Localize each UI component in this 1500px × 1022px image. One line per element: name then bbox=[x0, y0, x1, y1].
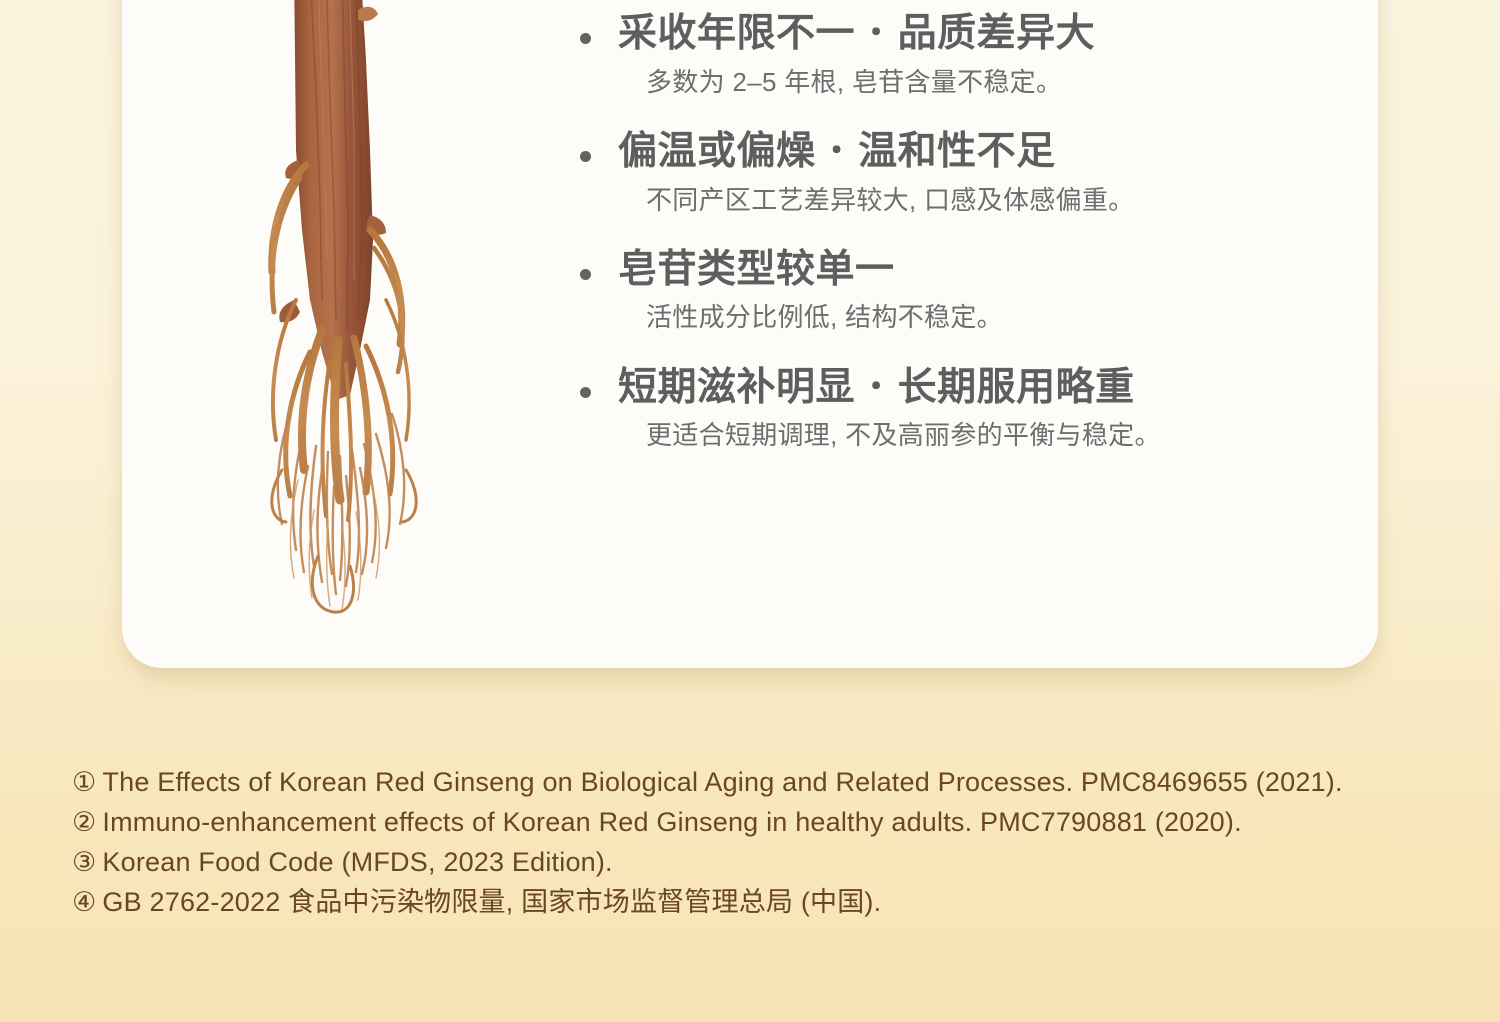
bullet-dot-icon bbox=[580, 151, 591, 162]
point-subtitle: 不同产区工艺差异较大, 口感及体感偏重。 bbox=[646, 183, 1318, 218]
reference-item: ②Immuno-enhancement effects of Korean Re… bbox=[72, 802, 1472, 842]
reference-number: ④ bbox=[72, 887, 96, 917]
point-title: 短期滋补明显 ･ 长期服用略重 bbox=[618, 364, 1318, 413]
bullet-dot-icon bbox=[580, 269, 591, 280]
point-subtitle: 活性成分比例低, 结构不稳定。 bbox=[646, 300, 1318, 335]
ginseng-root-illustration bbox=[210, 0, 490, 640]
bullet-dot-icon bbox=[580, 387, 591, 398]
list-item: 短期滋补明显 ･ 长期服用略重 更适合短期调理, 不及高丽参的平衡与稳定。 bbox=[578, 364, 1318, 454]
ginseng-root-image bbox=[210, 0, 490, 640]
list-item: 皂苷类型较单一 活性成分比例低, 结构不稳定。 bbox=[578, 246, 1318, 336]
reference-number: ③ bbox=[72, 847, 96, 877]
point-subtitle: 多数为 2–5 年根, 皂苷含量不稳定。 bbox=[646, 65, 1318, 100]
point-subtitle: 更适合短期调理, 不及高丽参的平衡与稳定。 bbox=[646, 418, 1318, 453]
reference-item: ③Korean Food Code (MFDS, 2023 Edition). bbox=[72, 842, 1472, 882]
bullet-dot-icon bbox=[580, 33, 591, 44]
references-list: ①The Effects of Korean Red Ginseng on Bi… bbox=[72, 762, 1472, 922]
point-title: 皂苷类型较单一 bbox=[618, 246, 1318, 295]
reference-number: ② bbox=[72, 807, 96, 837]
list-item: 采收年限不一 ･ 品质差异大 多数为 2–5 年根, 皂苷含量不稳定。 bbox=[578, 10, 1318, 100]
reference-number: ① bbox=[72, 767, 96, 797]
list-item: 偏温或偏燥 ･ 温和性不足 不同产区工艺差异较大, 口感及体感偏重。 bbox=[578, 128, 1318, 218]
feature-list: 采收年限不一 ･ 品质差异大 多数为 2–5 年根, 皂苷含量不稳定。 偏温或偏… bbox=[578, 10, 1318, 453]
point-title: 采收年限不一 ･ 品质差异大 bbox=[618, 10, 1318, 59]
reference-text: The Effects of Korean Red Ginseng on Bio… bbox=[102, 767, 1342, 797]
reference-text: Korean Food Code (MFDS, 2023 Edition). bbox=[102, 847, 612, 877]
reference-item: ④GB 2762-2022 食品中污染物限量, 国家市场监督管理总局 (中国). bbox=[72, 882, 1472, 922]
reference-item: ①The Effects of Korean Red Ginseng on Bi… bbox=[72, 762, 1472, 802]
content-card: 采收年限不一 ･ 品质差异大 多数为 2–5 年根, 皂苷含量不稳定。 偏温或偏… bbox=[122, 0, 1378, 668]
reference-text: GB 2762-2022 食品中污染物限量, 国家市场监督管理总局 (中国). bbox=[102, 887, 881, 917]
reference-text: Immuno-enhancement effects of Korean Red… bbox=[102, 807, 1241, 837]
point-title: 偏温或偏燥 ･ 温和性不足 bbox=[618, 128, 1318, 177]
